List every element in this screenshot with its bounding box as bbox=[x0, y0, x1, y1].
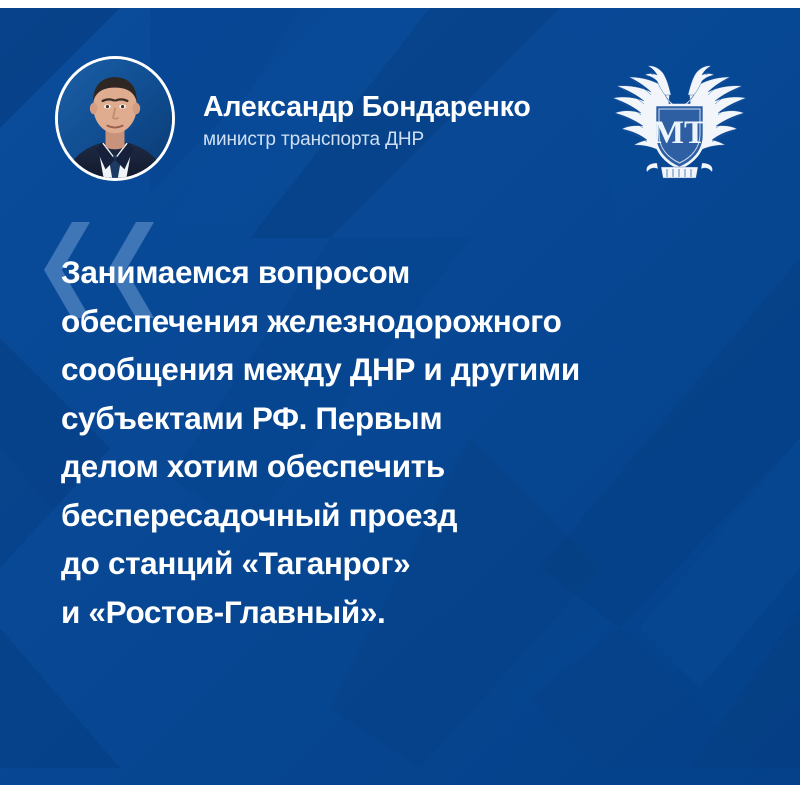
double-headed-eagle-emblem-icon: МТ bbox=[607, 53, 752, 183]
bottom-white-band bbox=[0, 785, 800, 800]
portrait-photo-icon bbox=[58, 59, 172, 178]
person-role: министр транспорта ДНР bbox=[203, 129, 603, 151]
avatar bbox=[55, 56, 175, 181]
top-white-band bbox=[0, 0, 800, 8]
person-info: Александр Бондаренко министр транспорта … bbox=[203, 91, 603, 151]
quote-line: и «Ростов-Главный». bbox=[61, 588, 751, 637]
emblem-monogram: МТ bbox=[653, 115, 706, 151]
quote-line: сообщения между ДНР и другими bbox=[61, 345, 751, 394]
quote-text: Занимаемся вопросом обеспечения железнод… bbox=[61, 248, 751, 636]
quote-line: до станций «Таганрог» bbox=[61, 539, 751, 588]
blue-panel: Александр Бондаренко министр транспорта … bbox=[0, 8, 800, 785]
quote-card: Александр Бондаренко министр транспорта … bbox=[0, 0, 800, 800]
quote-line: Занимаемся вопросом bbox=[61, 248, 751, 297]
quote-line: беспересадочный проезд bbox=[61, 491, 751, 540]
quote-line: субъектами РФ. Первым bbox=[61, 394, 751, 443]
quote-line: обеспечения железнодорожного bbox=[61, 297, 751, 346]
ministry-emblem: МТ bbox=[607, 53, 752, 183]
header: Александр Бондаренко министр транспорта … bbox=[0, 8, 800, 208]
quote-line: делом хотим обеспечить bbox=[61, 442, 751, 491]
person-name: Александр Бондаренко bbox=[203, 91, 603, 124]
